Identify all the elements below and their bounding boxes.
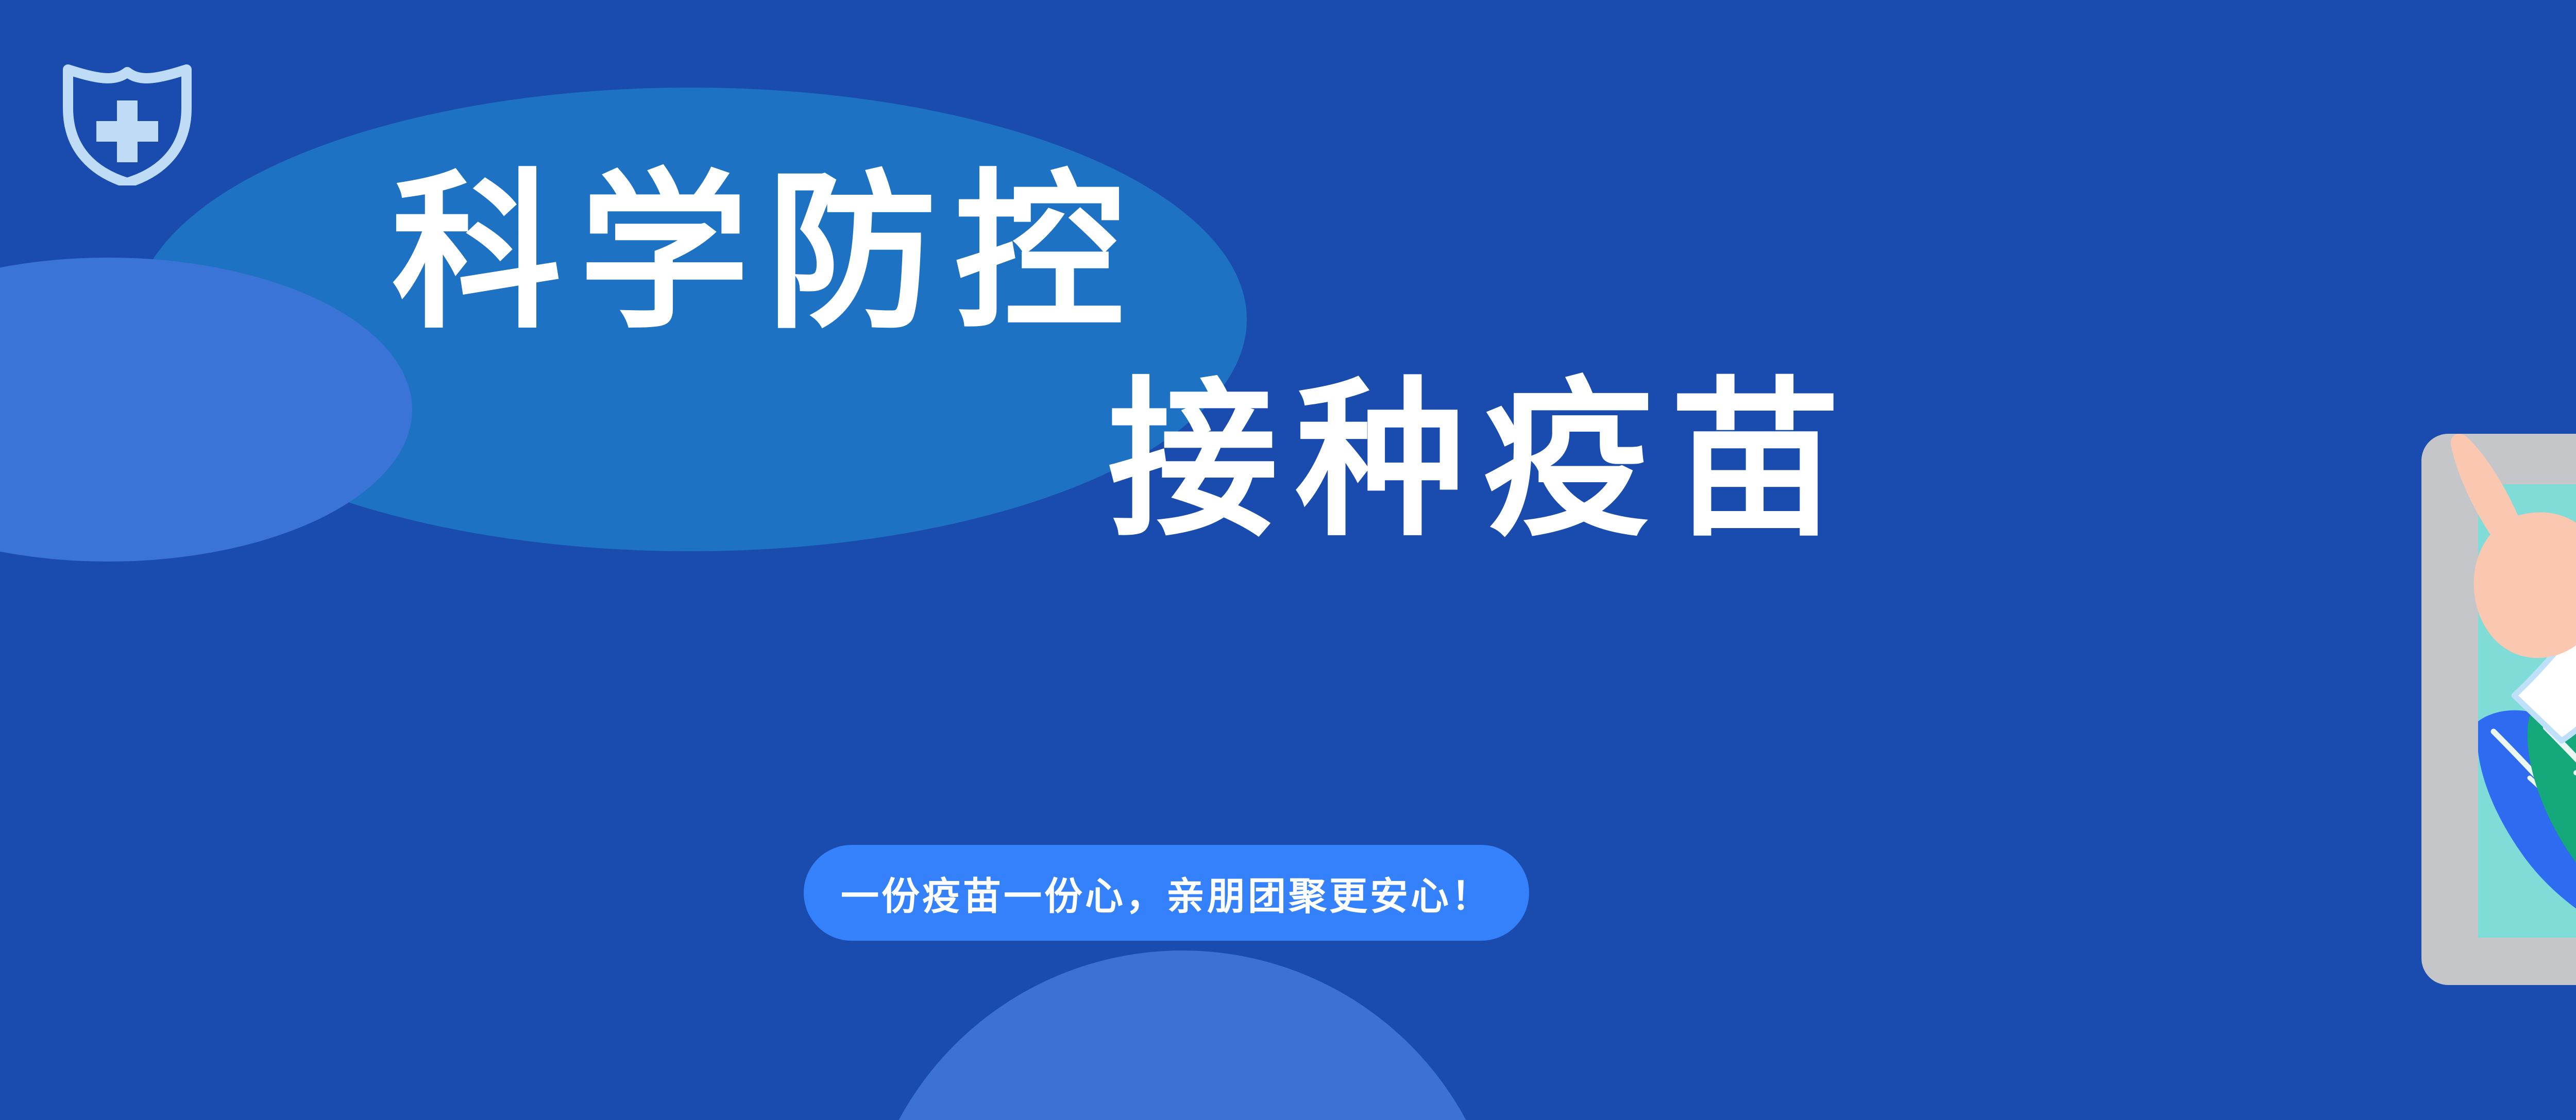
subtitle-pill-badge: 一份疫苗一份心，亲朋团聚更安心！ [804, 845, 1529, 941]
vaccination-promo-banner: 科学防控 接种疫苗 一份疫苗一份心，亲朋团聚更安心！ [0, 0, 2576, 1120]
headline-line-2: 接种疫苗 [0, 357, 2293, 565]
subtitle-text: 一份疫苗一份心，亲朋团聚更安心！ [841, 866, 1492, 921]
doctor-in-monitor-illustration [2308, 0, 2576, 1120]
headline-block: 科学防控 接种疫苗 [0, 149, 2293, 564]
decorative-circle-bottom [860, 951, 1504, 1120]
headline-line-1: 科学防控 [0, 149, 2293, 357]
